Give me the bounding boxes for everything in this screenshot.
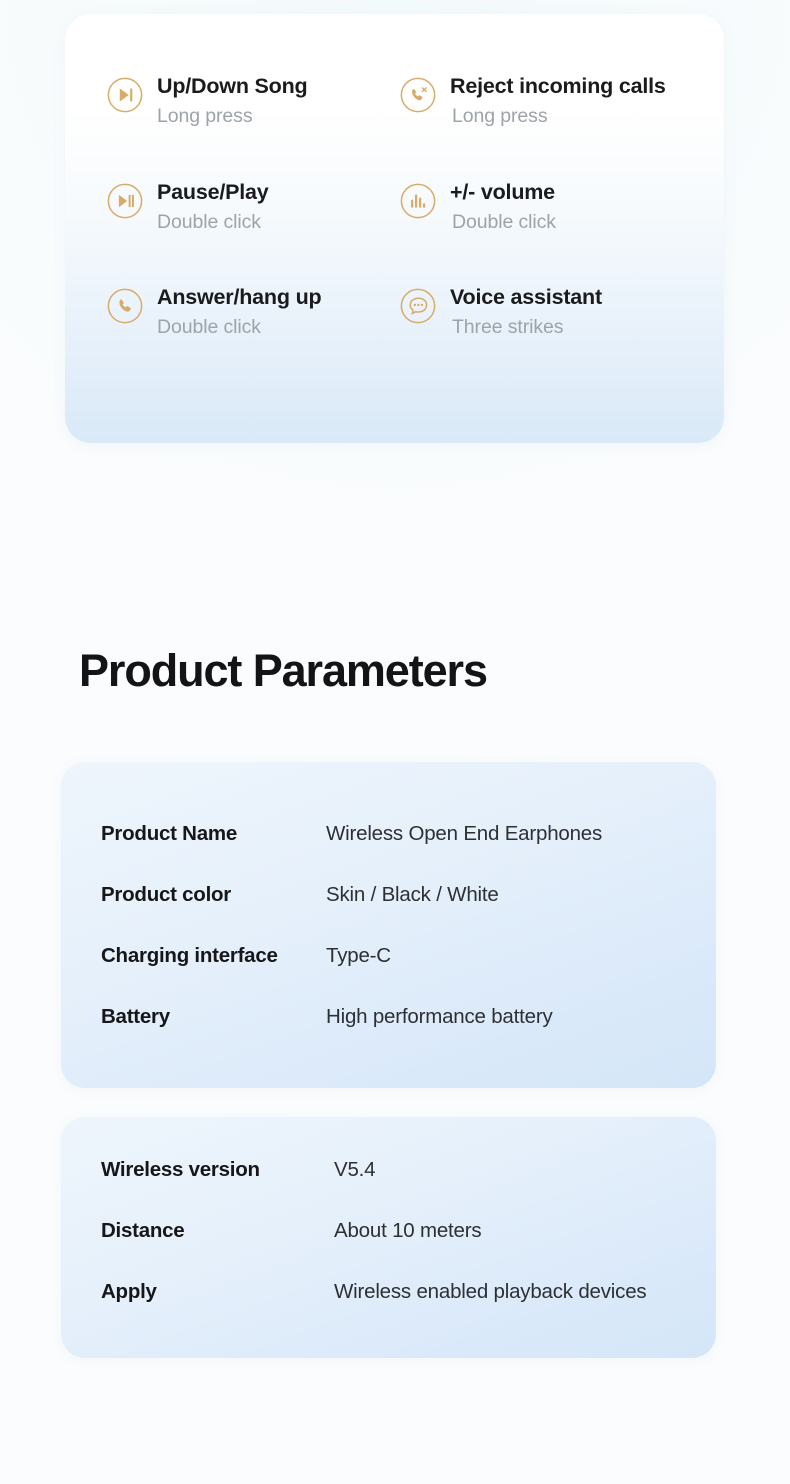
control-item-volume: +/- volume Double click [361, 180, 724, 286]
parameters-card-primary: Product Name Wireless Open End Earphones… [61, 762, 716, 1088]
control-title: Voice assistant [450, 285, 602, 309]
play-pause-icon [106, 182, 144, 220]
param-label: Wireless version [101, 1158, 260, 1182]
param-value: Wireless enabled playback devices [334, 1280, 646, 1304]
control-item-pause-play: Pause/Play Double click [65, 180, 361, 286]
volume-bars-icon [399, 182, 437, 220]
param-value: Skin / Black / White [326, 883, 499, 907]
param-value: V5.4 [334, 1158, 375, 1182]
control-action: Long press [452, 106, 666, 128]
page-title: Product Parameters [79, 648, 487, 693]
control-title: Up/Down Song [157, 74, 307, 98]
control-item-up-down-song: Up/Down Song Long press [65, 74, 361, 180]
reject-call-icon [399, 76, 437, 114]
control-title: +/- volume [450, 180, 556, 204]
param-value: About 10 meters [334, 1219, 481, 1243]
controls-card: Up/Down Song Long press Reject incoming … [65, 14, 724, 443]
control-action: Double click [157, 212, 269, 234]
table-row: Apply Wireless enabled playback devices [101, 1280, 157, 1304]
parameters-card-secondary: Wireless version V5.4 Distance About 10 … [61, 1117, 716, 1358]
control-title: Pause/Play [157, 180, 269, 204]
next-track-icon [106, 76, 144, 114]
control-item-voice-assistant: Voice assistant Three strikes [361, 285, 724, 391]
controls-grid: Up/Down Song Long press Reject incoming … [65, 14, 724, 443]
table-row: Distance About 10 meters [101, 1219, 184, 1243]
param-label: Distance [101, 1219, 184, 1243]
param-value: High performance battery [326, 1005, 553, 1029]
table-row: Wireless version V5.4 [101, 1158, 260, 1182]
control-item-reject-incoming-calls: Reject incoming calls Long press [361, 74, 724, 180]
param-value: Type-C [326, 944, 391, 968]
voice-assistant-icon [399, 287, 437, 325]
answer-call-icon [106, 287, 144, 325]
control-action: Three strikes [452, 317, 602, 339]
control-action: Double click [452, 212, 556, 234]
control-item-answer-hang-up: Answer/hang up Double click [65, 285, 361, 391]
control-action: Double click [157, 317, 321, 339]
product-detail-page: Up/Down Song Long press Reject incoming … [0, 0, 790, 1484]
control-title: Reject incoming calls [450, 74, 666, 98]
control-action: Long press [157, 106, 307, 128]
control-title: Answer/hang up [157, 285, 321, 309]
param-value: Wireless Open End Earphones [326, 822, 602, 846]
param-label: Apply [101, 1280, 157, 1304]
